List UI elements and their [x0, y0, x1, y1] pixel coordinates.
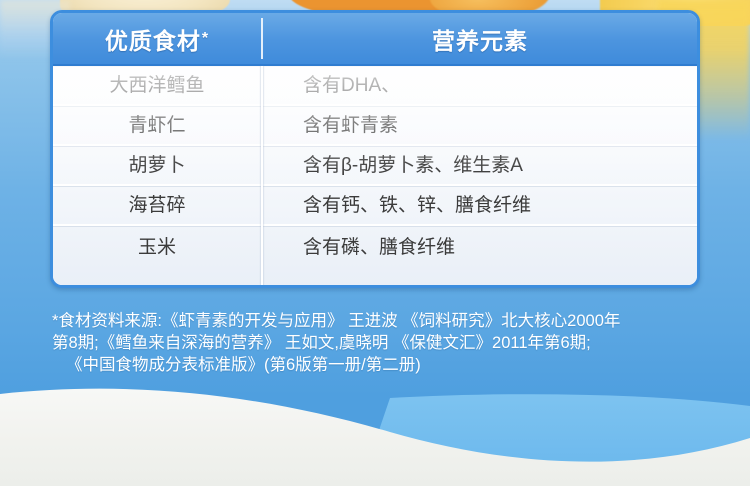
promo-page: 优质食材* 营养元素 大西洋鳕鱼 含有DHA、 青虾仁 含有虾青素 胡萝卜 含有… [0, 0, 750, 486]
header-cell-ingredient: 优质食材* [53, 13, 261, 64]
nutrition-table: 优质食材* 营养元素 大西洋鳕鱼 含有DHA、 青虾仁 含有虾青素 胡萝卜 含有… [50, 10, 700, 288]
header-cell-nutrient: 营养元素 [263, 13, 697, 64]
header-label-ingredient: 优质食材 [105, 22, 201, 56]
table-row: 玉米 含有磷、膳食纤维 [53, 226, 697, 269]
cell-nutrient: 含有DHA、 [261, 76, 697, 95]
cell-nutrient: 含有虾青素 [261, 116, 697, 135]
cell-ingredient: 青虾仁 [53, 116, 261, 135]
table-row: 青虾仁 含有虾青素 [53, 106, 697, 146]
cell-ingredient: 大西洋鳕鱼 [53, 76, 261, 95]
footnote-line-2: 第8期;《鳕鱼来自深海的营养》 王如文,虞晓明 《保健文汇》2011年第6期; [52, 332, 724, 354]
wave-svg [0, 376, 750, 486]
table-header-row: 优质食材* 营养元素 [53, 13, 697, 66]
cell-nutrient: 含有磷、膳食纤维 [261, 238, 697, 257]
cell-ingredient: 海苔碎 [53, 196, 261, 215]
table-row: 海苔碎 含有钙、铁、锌、膳食纤维 [53, 186, 697, 226]
footnote-line-3: 《中国食物成分表标准版》(第6版第一册/第二册) [52, 354, 724, 376]
cell-ingredient: 胡萝卜 [53, 156, 261, 175]
body-column-divider [261, 66, 263, 287]
cell-ingredient: 玉米 [53, 238, 261, 257]
cell-nutrient: 含有钙、铁、锌、膳食纤维 [261, 196, 697, 215]
footnote-line-1: *食材资料来源:《虾青素的开发与应用》 王进波 《饲料研究》北大核心2000年 [52, 310, 724, 332]
table-body: 大西洋鳕鱼 含有DHA、 青虾仁 含有虾青素 胡萝卜 含有β-胡萝卜素、维生素A… [53, 66, 697, 287]
table-row: 胡萝卜 含有β-胡萝卜素、维生素A [53, 146, 697, 186]
cell-nutrient: 含有β-胡萝卜素、维生素A [261, 156, 697, 175]
bottom-wave-decoration [0, 376, 750, 486]
source-footnote: *食材资料来源:《虾青素的开发与应用》 王进波 《饲料研究》北大核心2000年 … [52, 310, 724, 376]
table-row: 大西洋鳕鱼 含有DHA、 [53, 66, 697, 106]
